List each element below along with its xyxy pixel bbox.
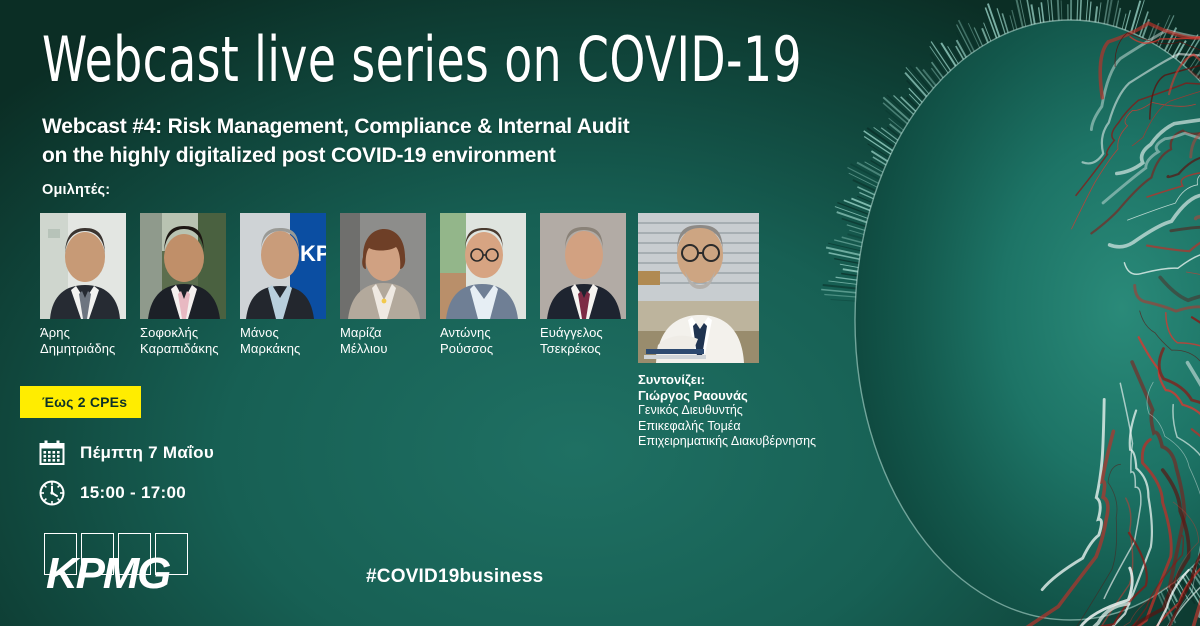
speaker-last-name: Ρούσσος (440, 341, 526, 357)
event-date: Πέμπτη 7 Μαΐου (80, 443, 214, 463)
speaker-name: Σοφοκλής Καραπιδάκης (140, 325, 226, 357)
speaker-last-name: Καραπιδάκης (140, 341, 226, 357)
speaker-card: Άρης Δημητριάδης (40, 213, 126, 357)
speaker-card: Αντώνης Ρούσσος (440, 213, 526, 357)
moderator-label: Συντονίζει: (638, 372, 816, 388)
moderator-name: Γιώργος Ραουνάς (638, 388, 816, 404)
event-datetime: Πέμπτη 7 Μαΐου 15:00 - 17:00 (38, 436, 214, 510)
portrait-graphic (40, 213, 126, 319)
speakers-list: Άρης Δημητριάδης (40, 213, 626, 357)
webcast-promo-banner: Webcast live series on COVID-19 Webcast … (0, 0, 1200, 626)
speaker-card: Σοφοκλής Καραπιδάκης (140, 213, 226, 357)
svg-text:KP: KP (300, 241, 326, 266)
event-date-row: Πέμπτη 7 Μαΐου (38, 436, 214, 470)
speaker-first-name: Μάνος (240, 325, 326, 341)
speaker-card: Μαρίζα Μέλλιου (340, 213, 426, 357)
moderator-title-line-3: Επιχειρηματικής Διακυβέρνησης (638, 434, 816, 450)
moderator-details: Συντονίζει: Γιώργος Ραουνάς Γενικός Διευ… (638, 372, 816, 450)
subtitle: Webcast #4: Risk Management, Compliance … (42, 112, 822, 170)
speaker-first-name: Ευάγγελος (540, 325, 626, 341)
subtitle-line-1: Webcast #4: Risk Management, Compliance … (42, 112, 822, 141)
speaker-name: Άρης Δημητριάδης (40, 325, 126, 357)
portrait-graphic (340, 213, 426, 319)
speaker-photo (340, 213, 426, 319)
speaker-first-name: Μαρίζα (340, 325, 426, 341)
moderator-card (638, 213, 759, 363)
logo-wordmark: KPMG (46, 552, 169, 596)
kpmg-logo: KPMG (44, 533, 192, 595)
speaker-photo: KP (240, 213, 326, 319)
moderator-title-line-2: Επικεφαλής Τομέα (638, 419, 816, 435)
clock-icon (38, 479, 66, 507)
speaker-name: Μάνος Μαρκάκης (240, 325, 326, 357)
speaker-first-name: Σοφοκλής (140, 325, 226, 341)
event-time: 15:00 - 17:00 (80, 483, 186, 503)
speaker-photo (440, 213, 526, 319)
speaker-last-name: Μαρκάκης (240, 341, 326, 357)
speaker-last-name: Μέλλιου (340, 341, 426, 357)
speaker-last-name: Τσεκρέκος (540, 341, 626, 357)
subtitle-line-2: on the highly digitalized post COVID-19 … (42, 141, 822, 170)
hashtag: #COVID19business (366, 566, 543, 588)
moderator-photo (638, 213, 759, 363)
calendar-icon (38, 439, 66, 467)
speaker-name: Αντώνης Ρούσσος (440, 325, 526, 357)
moderator-title-line-1: Γενικός Διευθυντής (638, 403, 816, 419)
portrait-graphic (540, 213, 626, 319)
speaker-photo (40, 213, 126, 319)
portrait-graphic: KP (240, 213, 326, 319)
cpe-badge: Έως 2 CPEs (20, 386, 141, 418)
speakers-label: Ομιλητές: (42, 182, 110, 198)
speaker-first-name: Αντώνης (440, 325, 526, 341)
portrait-graphic (638, 213, 759, 363)
speaker-last-name: Δημητριάδης (40, 341, 126, 357)
speaker-photo (540, 213, 626, 319)
speaker-first-name: Άρης (40, 325, 126, 341)
portrait-graphic (440, 213, 526, 319)
event-time-row: 15:00 - 17:00 (38, 476, 214, 510)
speaker-card: Ευάγγελος Τσεκρέκος (540, 213, 626, 357)
speaker-card: KP Μάνος Μαρκάκης (240, 213, 326, 357)
portrait-graphic (140, 213, 226, 319)
speaker-photo (140, 213, 226, 319)
speaker-name: Ευάγγελος Τσεκρέκος (540, 325, 626, 357)
speaker-name: Μαρίζα Μέλλιου (340, 325, 426, 357)
page-title: Webcast live series on COVID-19 (42, 28, 802, 92)
